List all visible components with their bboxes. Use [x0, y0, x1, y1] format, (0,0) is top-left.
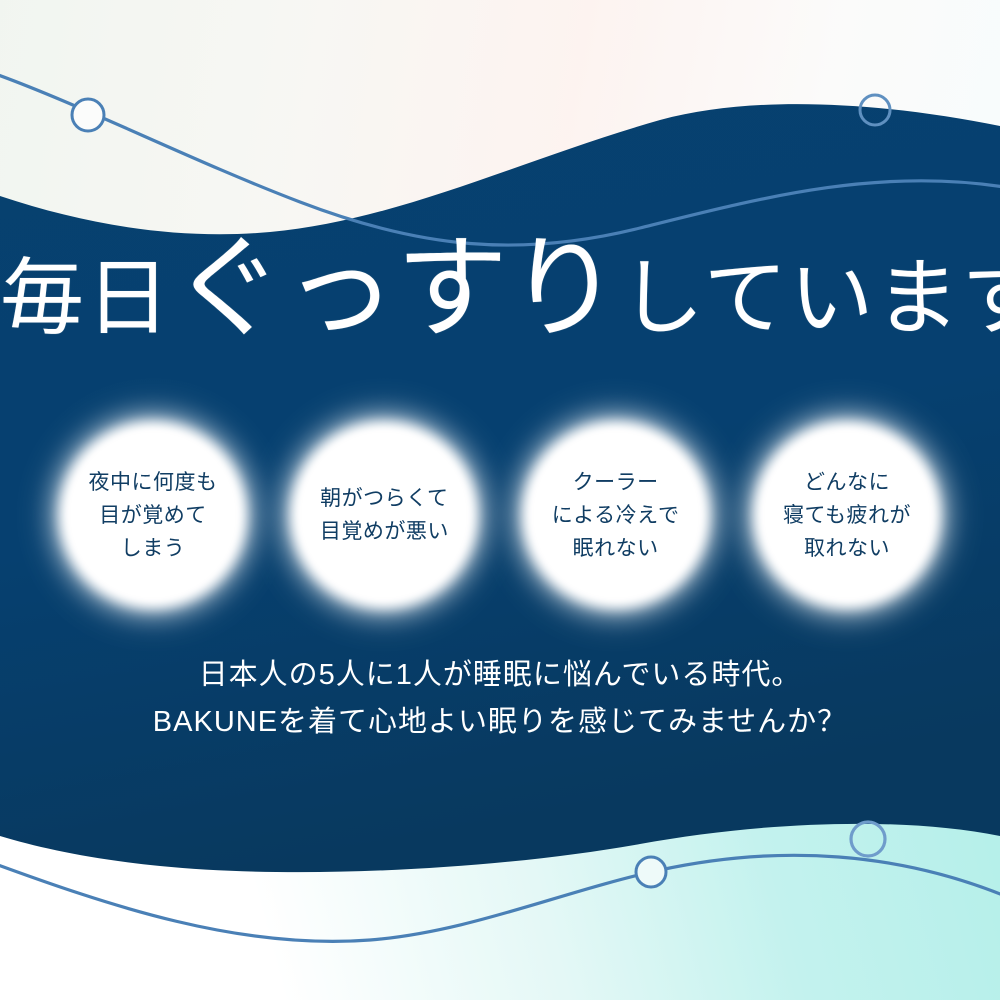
bubble-aircon-cold: クーラー による冷えで 眠れない: [523, 422, 709, 608]
bubble-still-tired: どんなに 寝ても疲れが 取れない: [754, 422, 940, 608]
bubble-label: クーラー による冷えで 眠れない: [552, 466, 680, 565]
sleep-promo-banner: 毎日ぐっすりしていますか？ 夜中に何度も 目が覚めて しまう 朝がつらくて 目覚…: [0, 0, 1000, 1000]
pain-point-bubble-list: 夜中に何度も 目が覚めて しまう 朝がつらくて 目覚めが悪い クーラー による冷…: [60, 410, 940, 620]
page-title: 毎日ぐっすりしていますか？: [0, 228, 1000, 353]
bubble-label: 朝がつらくて 目覚めが悪い: [320, 482, 449, 548]
bubble-label: どんなに 寝ても疲れが 取れない: [783, 466, 911, 565]
headline-suffix: していますか？: [620, 253, 1000, 346]
bubble-night-waking: 夜中に何度も 目が覚めて しまう: [60, 422, 246, 608]
headline-emphasis: ぐっすり: [172, 228, 620, 352]
banner-content: 毎日ぐっすりしていますか？ 夜中に何度も 目が覚めて しまう 朝がつらくて 目覚…: [0, 0, 1000, 1000]
headline-prefix: 毎日: [0, 253, 172, 346]
bubble-hard-morning: 朝がつらくて 目覚めが悪い: [291, 422, 477, 608]
bubble-label: 夜中に何度も 目が覚めて しまう: [89, 466, 218, 565]
lead-copy: 日本人の5人に1人が睡眠に悩んでいる時代。 BAKUNEを着て心地よい眠りを感じ…: [0, 652, 1000, 746]
